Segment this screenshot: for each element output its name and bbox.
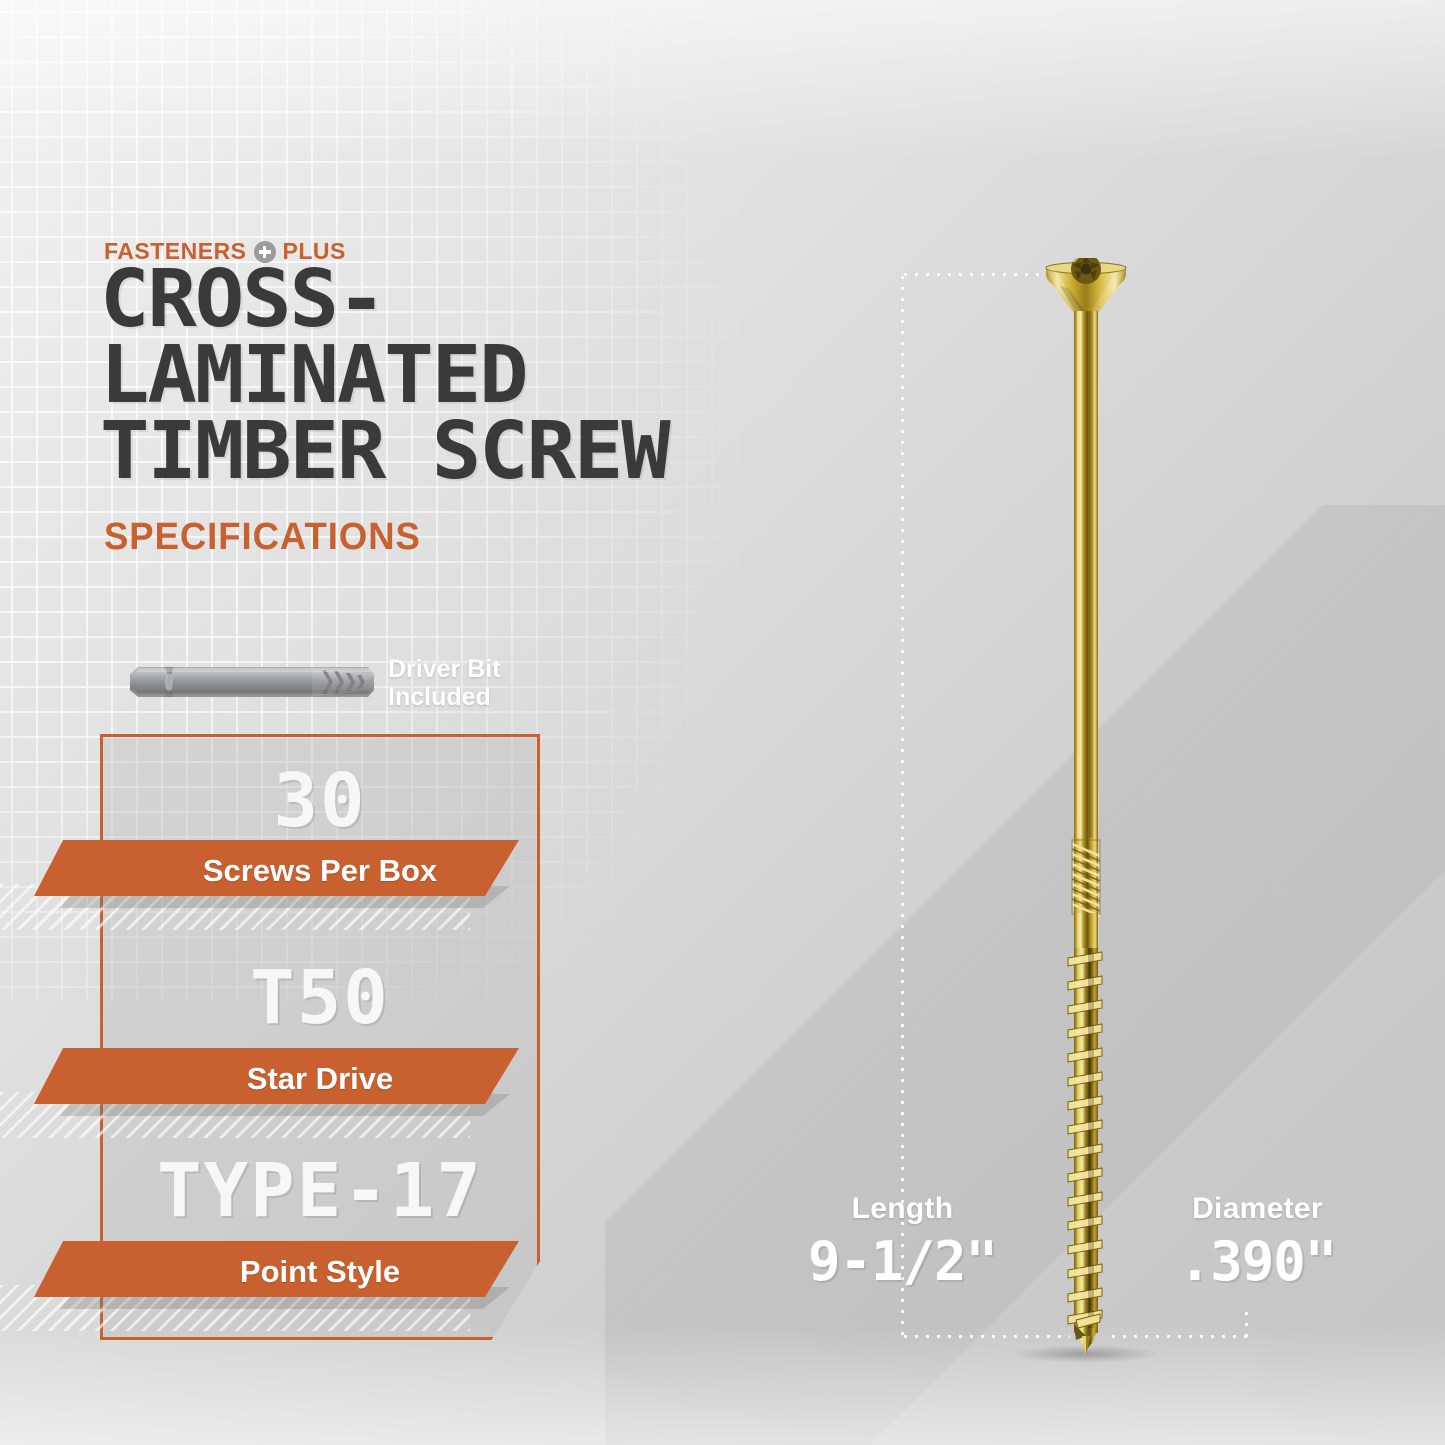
diameter-dimension-label: Diameter .390" bbox=[1145, 1192, 1370, 1293]
spec-value-screws-per-box: 30 bbox=[100, 758, 540, 844]
background-top-fade bbox=[0, 0, 1445, 160]
spec-value-star-drive: T50 bbox=[100, 955, 540, 1041]
background-bottom-fade bbox=[0, 1325, 1445, 1445]
length-value: 9-1/2" bbox=[790, 1230, 1015, 1293]
countersunk-star-drive-screw-icon bbox=[1016, 258, 1156, 1358]
spec-value-point-style: TYPE-17 bbox=[100, 1148, 540, 1234]
spec-label-star-drive: Star Drive bbox=[100, 1061, 540, 1097]
infographic-canvas: FASTENERS PLUS CROSS- LAMINATED TIMBER S… bbox=[0, 0, 1445, 1445]
diameter-caption: Diameter bbox=[1145, 1192, 1370, 1226]
driver-bit-label: Driver Bit Included bbox=[388, 655, 501, 711]
length-caption: Length bbox=[790, 1192, 1015, 1226]
diameter-value: .390" bbox=[1145, 1230, 1370, 1293]
diameter-dimension-line bbox=[1244, 1308, 1249, 1342]
page-subtitle: SPECIFICATIONS bbox=[104, 516, 421, 559]
driver-bit-graphic bbox=[126, 660, 376, 704]
length-dimension-label: Length 9-1/2" bbox=[790, 1192, 1015, 1293]
spec-label-point-style: Point Style bbox=[100, 1254, 540, 1290]
spec-label-screws-per-box: Screws Per Box bbox=[100, 853, 540, 889]
page-title: CROSS- LAMINATED TIMBER SCREW bbox=[100, 262, 974, 489]
